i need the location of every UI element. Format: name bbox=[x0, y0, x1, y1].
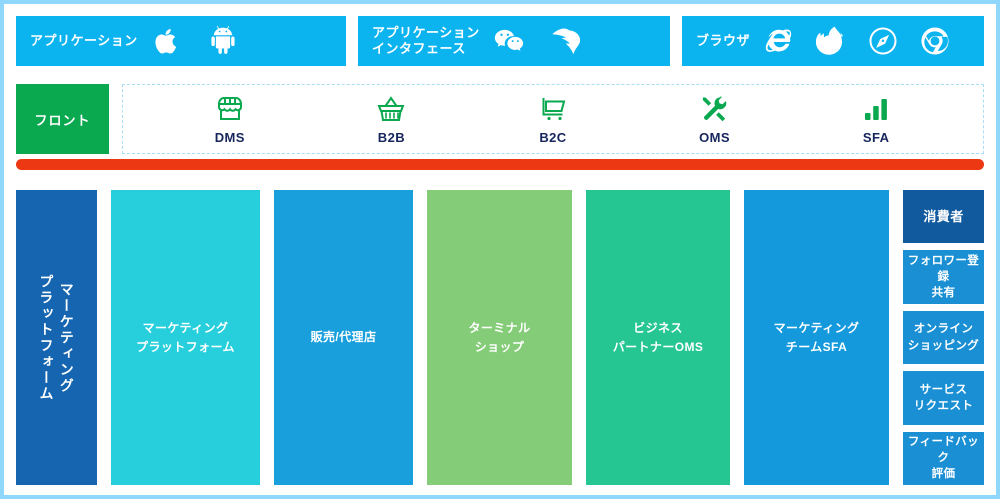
front-item-b2b-label: B2B bbox=[378, 130, 405, 145]
storefront-icon bbox=[214, 93, 246, 125]
front-item-dms-label: DMS bbox=[215, 130, 245, 145]
sidebar-card-feedback-rating[interactable]: フィードバック 評価 bbox=[903, 432, 984, 485]
column-marketing-team-sfa[interactable]: マーケティング チームSFA bbox=[744, 190, 889, 485]
firefox-icon[interactable] bbox=[816, 26, 846, 56]
front-item-b2b[interactable]: B2B bbox=[311, 93, 473, 145]
column-business-partner-oms[interactable]: ビジネス パートナーOMS bbox=[586, 190, 730, 485]
consumer-sidebar: 消費者 フォロワー登録 共有 オンライン ショッピング サービス リクエスト フ… bbox=[903, 190, 984, 485]
front-item-oms[interactable]: OMS bbox=[634, 93, 796, 145]
architecture-diagram-page: アプリケーション アプリケーション インタフェース ブラウザ フロ bbox=[0, 0, 1000, 499]
header-panel-applications-label: アプリケーション bbox=[30, 33, 138, 49]
bar-chart-icon bbox=[860, 93, 892, 125]
front-item-dms[interactable]: DMS bbox=[149, 93, 311, 145]
column-sales-agency[interactable]: 販売/代理店 bbox=[274, 190, 413, 485]
channel-header-row: アプリケーション アプリケーション インタフェース ブラウザ bbox=[16, 16, 984, 66]
front-badge: フロント bbox=[16, 84, 109, 154]
front-item-oms-label: OMS bbox=[699, 130, 730, 145]
safari-icon[interactable] bbox=[868, 26, 898, 56]
front-item-b2c-label: B2C bbox=[539, 130, 566, 145]
sidebar-card-follower-registration-share[interactable]: フォロワー登録 共有 bbox=[903, 250, 984, 303]
front-item-sfa-label: SFA bbox=[863, 130, 889, 145]
shopping-cart-icon bbox=[537, 93, 569, 125]
header-panel-browser-label: ブラウザ bbox=[696, 33, 750, 49]
basket-icon bbox=[375, 93, 407, 125]
front-item-b2c[interactable]: B2C bbox=[472, 93, 634, 145]
header-panel-application-interface-label: アプリケーション インタフェース bbox=[372, 25, 480, 58]
apple-icon[interactable] bbox=[152, 26, 182, 56]
dingtalk-wing-icon[interactable] bbox=[550, 26, 580, 56]
front-modules-panel: DMS B2B B2C bbox=[122, 84, 984, 154]
platform-columns-row: マーケティング プラットフォーム マーケティング プラットフォーム 販売/代理店… bbox=[16, 190, 984, 485]
column-terminal-shop[interactable]: ターミナル ショップ bbox=[427, 190, 572, 485]
header-panel-application-interface-icons bbox=[494, 26, 580, 56]
header-panel-application-interface[interactable]: アプリケーション インタフェース bbox=[358, 16, 670, 66]
sidebar-card-service-request[interactable]: サービス リクエスト bbox=[903, 371, 984, 424]
front-row: フロント DMS B2B bbox=[16, 84, 984, 154]
header-panel-applications[interactable]: アプリケーション bbox=[16, 16, 346, 66]
front-item-sfa[interactable]: SFA bbox=[795, 93, 957, 145]
column-marketing-platform[interactable]: マーケティング プラットフォーム bbox=[111, 190, 260, 485]
red-divider-bar bbox=[16, 159, 984, 170]
wechat-icon[interactable] bbox=[494, 26, 524, 56]
internet-explorer-icon[interactable] bbox=[764, 26, 794, 56]
header-panel-browser[interactable]: ブラウザ bbox=[682, 16, 984, 66]
column-marketing-platform-label: マーケティング プラットフォーム bbox=[16, 190, 97, 485]
header-panel-browser-icons bbox=[764, 26, 950, 56]
chrome-icon[interactable] bbox=[920, 26, 950, 56]
android-icon[interactable] bbox=[208, 26, 238, 56]
header-panel-applications-icons bbox=[152, 26, 238, 56]
tools-icon bbox=[699, 93, 731, 125]
sidebar-card-consumer[interactable]: 消費者 bbox=[903, 190, 984, 243]
sidebar-card-online-shopping[interactable]: オンライン ショッピング bbox=[903, 311, 984, 364]
